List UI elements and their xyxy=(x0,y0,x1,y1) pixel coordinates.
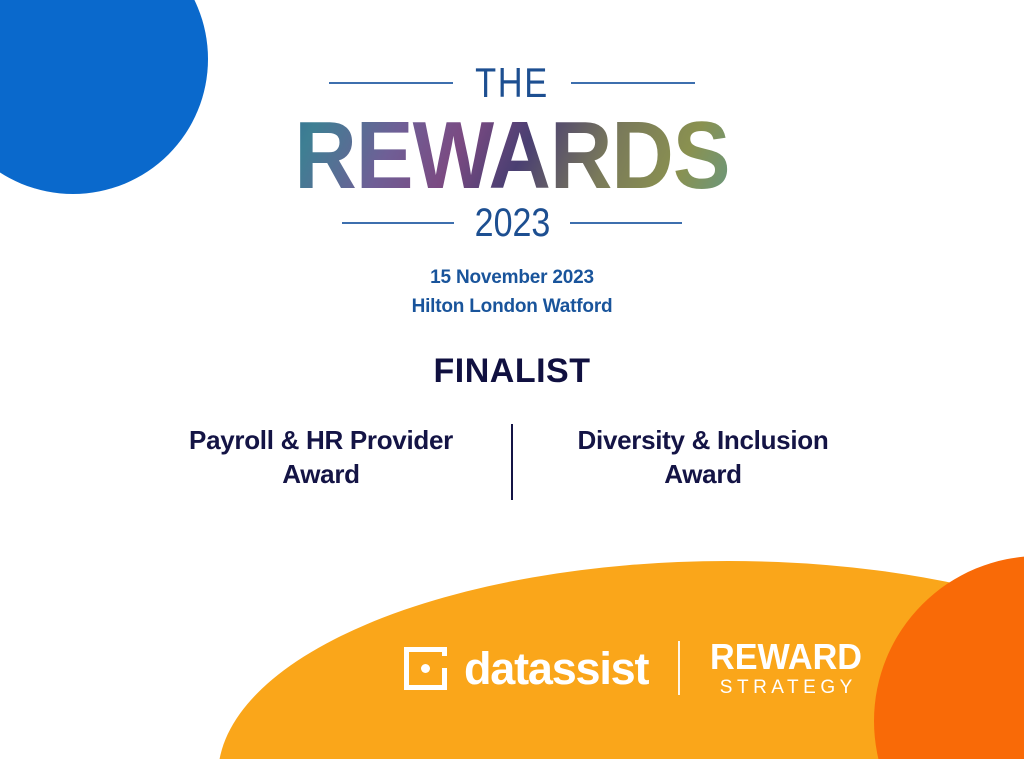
square-dot-icon xyxy=(404,647,447,690)
award-category-payroll-hr-provider: Payroll & HR Provider Award xyxy=(151,424,511,492)
rule-left xyxy=(329,82,453,84)
logo-rewards-text: REWARDS xyxy=(51,110,973,201)
award-logo: THE REWARDS 2023 xyxy=(0,62,1024,243)
reward-strategy-line1: REWARD xyxy=(710,639,862,675)
the-row: THE xyxy=(0,62,1024,104)
reward-strategy-logo: REWARD STRATEGY xyxy=(706,639,866,697)
logo-year-text: 2023 xyxy=(474,203,550,243)
logo-separator xyxy=(678,641,680,695)
event-details: 15 November 2023 Hilton London Watford xyxy=(0,264,1024,322)
award-category-line2: Award xyxy=(533,458,873,492)
rule-left-year xyxy=(342,222,454,224)
rule-right xyxy=(571,82,695,84)
award-category-line1: Diversity & Inclusion xyxy=(533,424,873,458)
square-dot-icon-dot xyxy=(421,664,430,673)
finalist-heading: FINALIST xyxy=(0,352,1024,391)
datassist-wordmark: datassist xyxy=(464,646,648,691)
square-dot-icon-notch xyxy=(441,656,448,668)
award-category-line2: Award xyxy=(151,458,491,492)
logo-the-text: THE xyxy=(475,62,549,104)
event-venue: Hilton London Watford xyxy=(0,293,1024,322)
award-category-diversity-inclusion: Diversity & Inclusion Award xyxy=(513,424,873,492)
finalist-poster: THE REWARDS 2023 15 November 2023 Hilton… xyxy=(0,0,1024,759)
reward-strategy-line2: STRATEGY xyxy=(706,678,866,697)
footer-logo-lockup: datassist REWARD STRATEGY xyxy=(404,639,866,697)
award-category-line1: Payroll & HR Provider xyxy=(151,424,491,458)
rule-right-year xyxy=(570,222,682,224)
year-row: 2023 xyxy=(0,203,1024,243)
datassist-logo: datassist xyxy=(404,646,648,691)
event-date: 15 November 2023 xyxy=(0,264,1024,293)
award-categories: Payroll & HR Provider Award Diversity & … xyxy=(0,424,1024,500)
